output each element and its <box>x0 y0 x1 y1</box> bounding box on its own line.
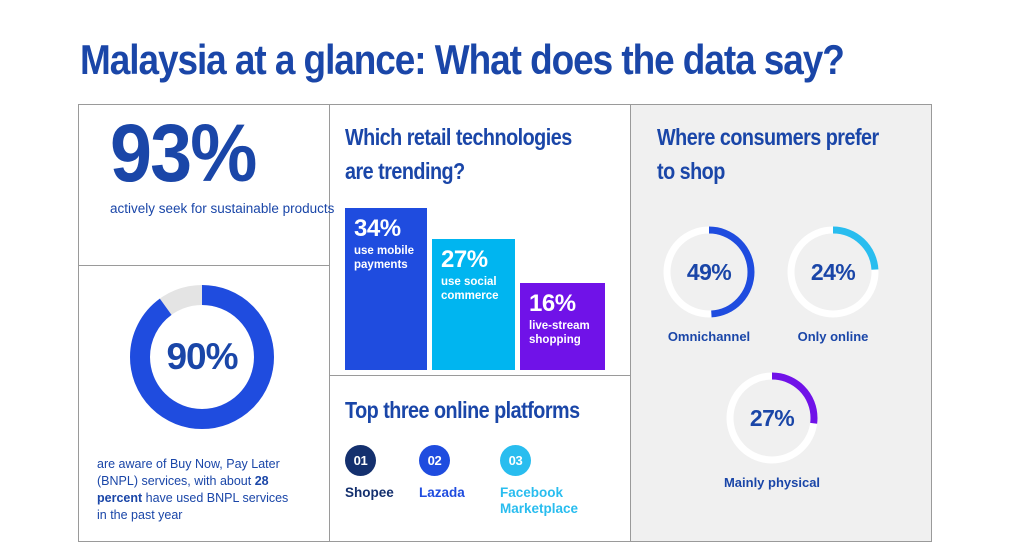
gauge-omnichannel-value: 49% <box>659 222 759 322</box>
gauge-mainly-physical: 27% Mainly physical <box>710 368 834 490</box>
donut-bnpl-value: 90% <box>112 282 292 432</box>
gauge-only-online-value: 24% <box>783 222 883 322</box>
platform-rank-badge-03: 03 <box>500 445 531 476</box>
bar-social-commerce: 27% use social commerce <box>432 239 515 370</box>
right-heading: Where consumers prefer to shop <box>657 120 898 188</box>
platform-name-lazada: Lazada <box>419 485 511 501</box>
middle-heading: Which retail technologies are trending? <box>345 120 594 188</box>
infographic-page: Malaysia at a glance: What does the data… <box>0 0 1018 552</box>
gauge-omnichannel: 49% Omnichannel <box>647 222 771 344</box>
gauge-omnichannel-label: Omnichannel <box>647 329 771 344</box>
gauge-only-online-label: Only online <box>771 329 895 344</box>
platforms-heading: Top three online platforms <box>345 393 594 427</box>
gauge-mainly-physical-value: 27% <box>722 368 822 468</box>
donut-bnpl-awareness: 90% <box>112 282 292 432</box>
donut-bnpl-note: are aware of Buy Now, Pay Later (BNPL) s… <box>97 456 292 524</box>
stat-sustainable-products: 93% actively seek for sustainable produc… <box>110 112 334 217</box>
bar-value-2: 16% <box>529 291 597 317</box>
bar-label-1: use social commerce <box>441 276 507 303</box>
stat-caption: actively seek for sustainable products <box>110 200 334 217</box>
bar-label-2: live-stream shopping <box>529 320 597 347</box>
donut-note-lead: are aware of Buy Now, Pay Later (BNPL) s… <box>97 457 280 488</box>
bar-label-0: use mobile payments <box>354 245 419 272</box>
page-title: Malaysia at a glance: What does the data… <box>80 38 854 82</box>
platform-name-facebook-marketplace: Facebook Marketplace <box>500 485 592 517</box>
platform-item-facebook-marketplace: 03 Facebook Marketplace <box>500 445 592 517</box>
platform-rank-badge-01: 01 <box>345 445 376 476</box>
platform-item-lazada: 02 Lazada <box>419 445 511 501</box>
gauge-mainly-physical-label: Mainly physical <box>710 475 834 490</box>
stat-value: 93% <box>110 112 316 196</box>
bar-chart-retail-technologies: 34% use mobile payments 27% use social c… <box>345 205 615 370</box>
bar-mobile-payments: 34% use mobile payments <box>345 208 427 370</box>
bar-value-1: 27% <box>441 247 507 273</box>
divider-left-column <box>78 265 330 266</box>
divider-middle-column <box>329 375 631 376</box>
top-platforms-list: 01 Shopee 02 Lazada 03 Facebook Marketpl… <box>345 445 625 535</box>
gauge-only-online: 24% Only online <box>771 222 895 344</box>
bar-live-stream-shopping: 16% live-stream shopping <box>520 283 605 370</box>
platform-rank-badge-02: 02 <box>419 445 450 476</box>
bar-value-0: 34% <box>354 216 419 242</box>
